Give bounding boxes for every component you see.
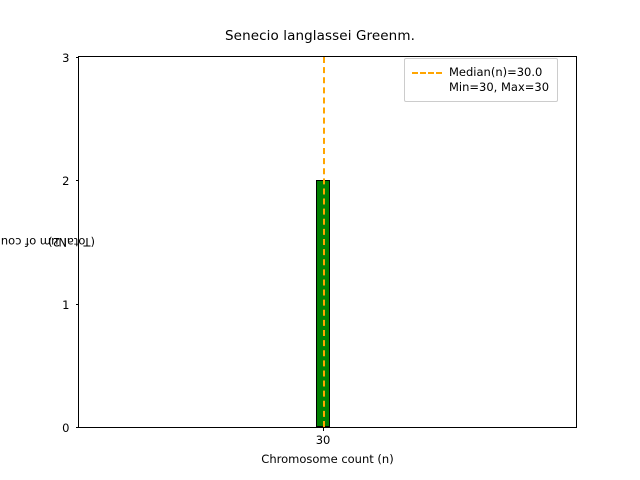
y-tick-label-2: 2 <box>62 174 69 188</box>
bars-layer <box>79 57 576 427</box>
y-tick-mark-0: 0 <box>76 427 80 428</box>
y-tick-label-3: 3 <box>62 51 69 65</box>
x-tick-label-30: 30 <box>316 433 331 447</box>
y-tick-label-1: 1 <box>62 298 69 312</box>
legend-entry-labels: Median(n)=30.0 Min=30, Max=30 <box>449 65 549 95</box>
legend-label-range: Min=30, Max=30 <box>449 80 549 95</box>
legend-label-median: Median(n)=30.0 <box>449 65 549 80</box>
y-tick-label-0: 0 <box>62 421 69 435</box>
x-tick-mark-30 <box>323 427 324 431</box>
chart-figure: Senecio langlassei Greenm. 0 1 2 3 30 Ch… <box>0 0 640 480</box>
legend-entry-median: Median(n)=30.0 Min=30, Max=30 <box>412 65 549 95</box>
y-axis-label-text: Num of counts (Total 2) <box>18 200 60 284</box>
chart-legend: Median(n)=30.0 Min=30, Max=30 <box>404 58 558 102</box>
median-line <box>323 57 325 427</box>
dashed-line-icon <box>412 65 442 79</box>
y-axis-label-line2: (Total 2) <box>11 235 95 249</box>
chart-title: Senecio langlassei Greenm. <box>0 28 640 44</box>
plot-area: 0 1 2 3 30 <box>78 56 577 428</box>
y-axis-label: Num of counts (Total 2) <box>30 56 48 428</box>
x-axis-label: Chromosome count (n) <box>78 452 577 466</box>
